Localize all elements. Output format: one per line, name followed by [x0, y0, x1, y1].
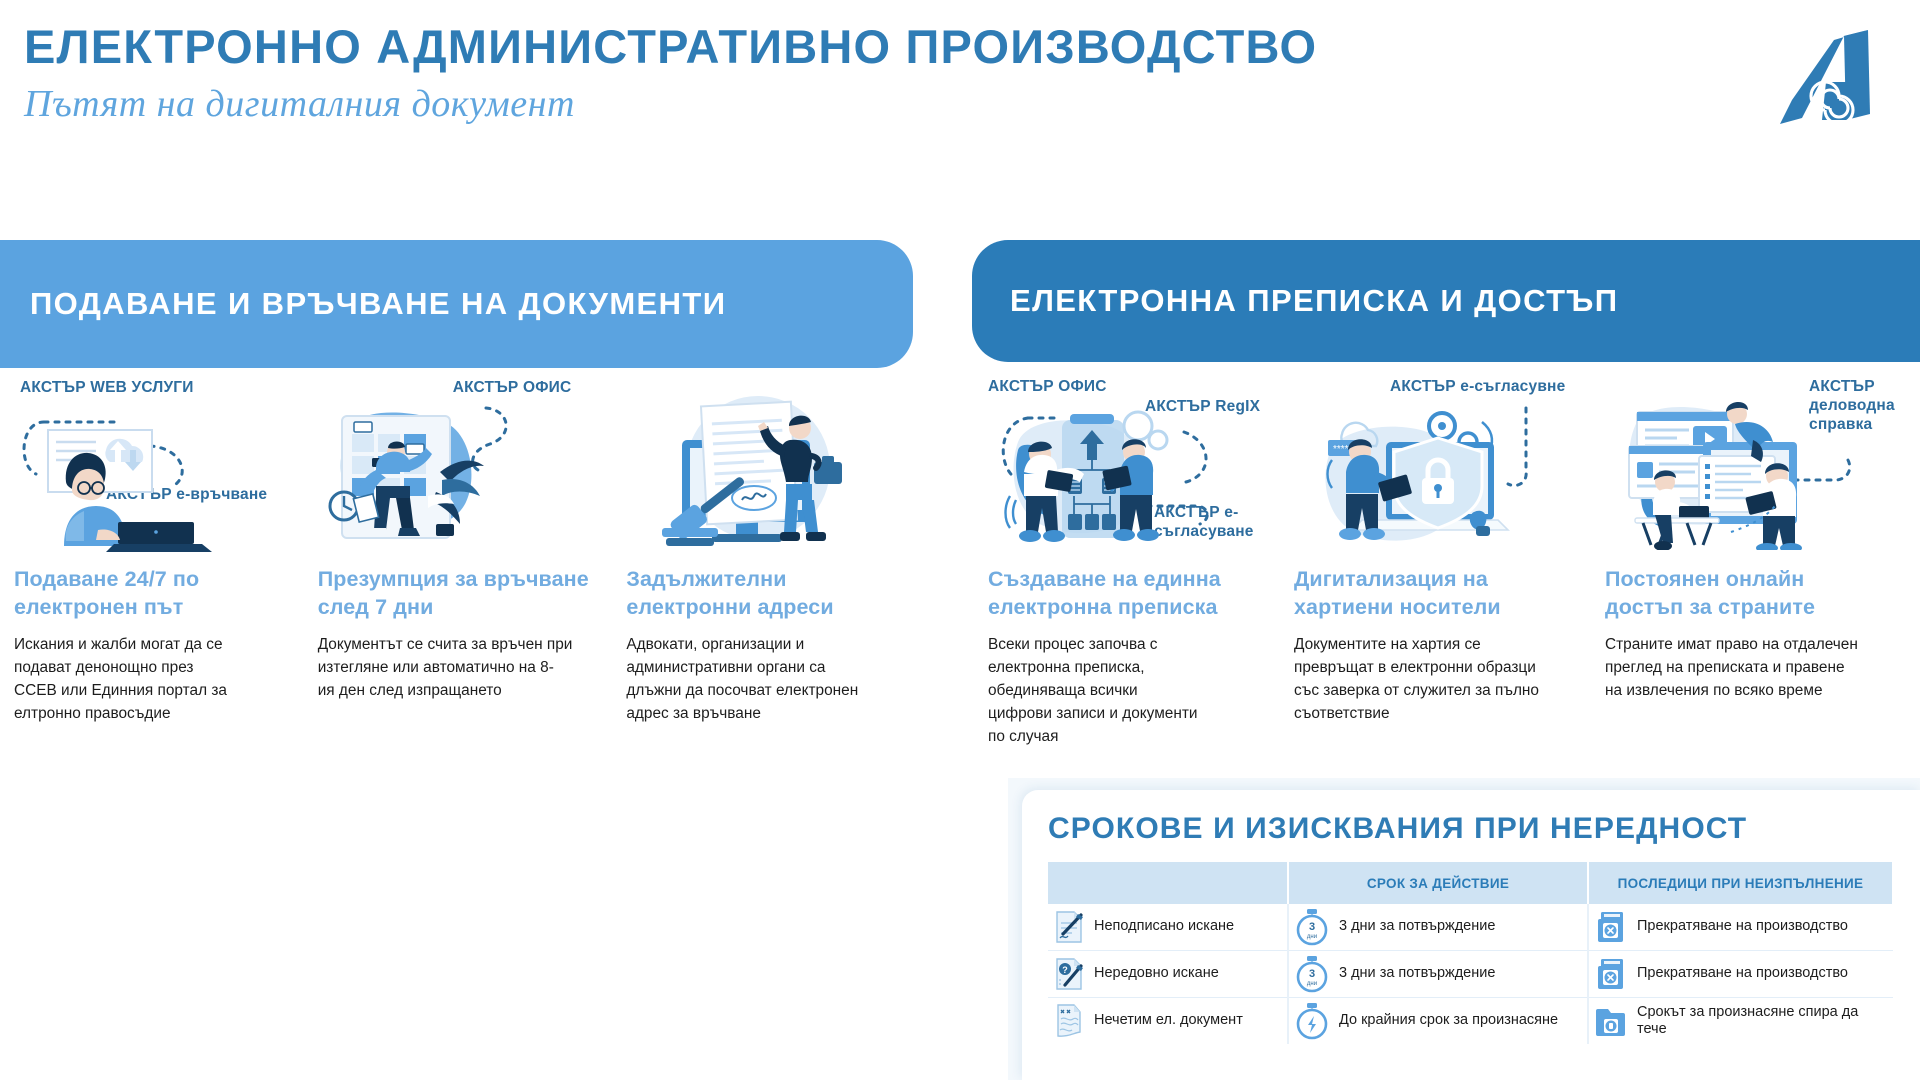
cell-deadline-text: 3 дни за потвърждение: [1339, 918, 1495, 935]
tag-akstar-office: АКСТЪР ОФИС: [453, 379, 572, 398]
section-banner-efile-label: ЕЛЕКТРОННА ПРЕПИСКА И ДОСТЪП: [1010, 281, 1618, 321]
stopwatch-3-days-icon: 3 дни: [1295, 955, 1329, 993]
cards-group-efile: АКСТЪР ОФИС АКСТЪР RegIX АКСТЪР е- съгла…: [988, 380, 1918, 748]
deadlines-panel: СРОКОВЕ И ИЗИСКВАНИЯ ПРИ НЕРЕДНОСТ СРОК …: [1022, 790, 1920, 1080]
card-illustration-area: АКСТЪР ОФИС АКСТЪР RegIX АКСТЪР е- съгла…: [988, 380, 1288, 555]
cell-consequence: Прекратяване на производство: [1588, 951, 1893, 998]
cards-group-submission: АКСТЪР WEB УСЛУГИ АКСТЪР е-връчване: [14, 380, 934, 725]
table-row: ? Нередовно искане: [1048, 951, 1893, 998]
cell-deadline: 3 дни 3 дни за потвърждение: [1288, 904, 1588, 951]
cell-consequence-text: Прекратяване на производство: [1637, 965, 1848, 982]
card-paper-digitization: АКСТЪР е-съгласувне ****: [1294, 380, 1599, 748]
cell-issue: Неподписано искане: [1048, 904, 1288, 951]
woman-laptop-cloud-upload-illustration: [14, 398, 294, 553]
stopwatch-number: 3: [1309, 921, 1315, 933]
card-illustration-area: АКСТЪР WEB УСЛУГИ АКСТЪР е-връчване: [14, 380, 312, 555]
card-body: Всеки процес започва с електронна препис…: [988, 633, 1288, 749]
section-banner-submission: ПОДАВАНЕ И ВРЪЧВАНЕ НА ДОКУМЕНТИ: [0, 240, 913, 368]
card-submission-247: АКСТЪР WEB УСЛУГИ АКСТЪР е-връчване: [14, 380, 312, 725]
page-title: ЕЛЕКТРОННО АДМИНИСТРАТИВНО ПРОИЗВОДСТВО: [24, 22, 1317, 71]
cell-consequence-text: Прекратяване на производство: [1637, 918, 1848, 935]
card-body: Документите на хартия се превръщат в еле…: [1294, 633, 1599, 725]
stopwatch-unit: дни: [1307, 981, 1317, 987]
tag-akstar-office: АКСТЪР ОФИС: [988, 378, 1107, 397]
deadlines-table: СРОК ЗА ДЕЙСТВИЕ ПОСЛЕДИЦИ ПРИ НЕИЗПЪЛНЕ…: [1048, 862, 1894, 1044]
card-body: Искания и жалби могат да се подават дено…: [14, 633, 312, 725]
documents-cancel-icon: [1595, 910, 1627, 944]
card-illustration-area: АКСТЪР деловодна справка: [1605, 380, 1915, 555]
table-header-deadline: СРОК ЗА ДЕЙСТВИЕ: [1288, 862, 1588, 904]
cell-consequence: Срокът за произнасяне спира да тече: [1588, 998, 1893, 1045]
card-mandatory-eaddresses: Задължителни електронни адреси Адвокати,…: [626, 380, 934, 725]
cell-deadline-text: 3 дни за потвърждение: [1339, 965, 1495, 982]
unreadable-document-icon: [1054, 1003, 1084, 1039]
svg-text:?: ?: [1062, 965, 1068, 975]
table-row: Нечетим ел. документ До: [1048, 998, 1893, 1045]
svg-text:****: ****: [1333, 444, 1349, 455]
card-body: Адвокати, организации и административни …: [626, 633, 934, 725]
page-subtitle: Пътят на дигиталния документ: [24, 84, 1317, 126]
gavel-document-monitor-illustration: [640, 388, 890, 552]
unsigned-document-pen-icon: [1054, 910, 1084, 944]
card-title: Подаване 24/7 по електронен път: [14, 565, 312, 622]
cell-deadline-text: До крайния срок за произнасяне: [1339, 1012, 1558, 1029]
stopwatch-number: 3: [1309, 968, 1315, 980]
section-banner-efile: ЕЛЕКТРОННА ПРЕПИСКА И ДОСТЪП: [972, 240, 1920, 362]
two-people-server-structure-illustration: [988, 396, 1256, 554]
card-illustration-area: [626, 380, 934, 555]
people-screens-remote-access-illustration: [1611, 392, 1879, 550]
infographic-page: ЕЛЕКТРОННО АДМИНИСТРАТИВНО ПРОИЗВОДСТВО …: [0, 0, 1920, 1080]
question-document-icon: ?: [1054, 957, 1084, 991]
akstar-a-logo-icon: [1772, 22, 1882, 132]
cell-deadline: 3 дни 3 дни за потвърждение: [1288, 951, 1588, 998]
card-title: Постоянен онлайн достъп за страните: [1605, 565, 1915, 622]
card-title: Презумпция за връчване след 7 дни: [318, 565, 621, 622]
cell-issue-text: Нечетим ел. документ: [1094, 1012, 1243, 1029]
table-header-issue: [1048, 862, 1288, 904]
stopwatch-unit: дни: [1307, 934, 1317, 940]
man-laptop-shield-lock-illustration: ****: [1302, 404, 1580, 554]
cell-consequence-text: Срокът за произнасяне спира да тече: [1637, 1004, 1887, 1039]
cell-consequence: Прекратяване на производство: [1588, 904, 1893, 951]
cell-issue-text: Неподписано искане: [1094, 918, 1234, 935]
cell-issue-text: Нередовно искане: [1094, 965, 1219, 982]
card-illustration-area: АКСТЪР ОФИС: [318, 380, 621, 555]
tag-akstar-eapproval: АКСТЪР е-съгласувне: [1390, 378, 1565, 397]
documents-cancel-icon: [1595, 957, 1627, 991]
folder-pause-icon: [1595, 1004, 1627, 1038]
card-title: Дигитализация на хартиени носители: [1294, 565, 1599, 622]
card-title: Създаване на единна електронна преписка: [988, 565, 1288, 622]
card-body: Документът се счита за връчен при изтегл…: [318, 633, 621, 702]
card-delivery-presumption: АКСТЪР ОФИС: [318, 380, 621, 725]
card-permanent-online-access: АКСТЪР деловодна справка: [1605, 380, 1915, 748]
cell-issue: Нечетим ел. документ: [1048, 998, 1288, 1045]
table-header-row: СРОК ЗА ДЕЙСТВИЕ ПОСЛЕДИЦИ ПРИ НЕИЗПЪЛНЕ…: [1048, 862, 1893, 904]
card-illustration-area: АКСТЪР е-съгласувне ****: [1294, 380, 1599, 555]
section-banner-submission-label: ПОДАВАНЕ И ВРЪЧВАНЕ НА ДОКУМЕНТИ: [30, 284, 726, 324]
table-row: Неподписано искане 3 дни: [1048, 904, 1893, 951]
card-body: Страните имат право на отдалечен преглед…: [1605, 633, 1915, 702]
cell-deadline: До крайния срок за произнасяне: [1288, 998, 1588, 1045]
page-header: ЕЛЕКТРОННО АДМИНИСТРАТИВНО ПРОИЗВОДСТВО …: [24, 22, 1317, 126]
tag-akstar-web-services: АКСТЪР WEB УСЛУГИ: [20, 379, 194, 398]
stopwatch-3-days-icon: 3 дни: [1295, 908, 1329, 946]
stopwatch-pause-icon: [1295, 1002, 1329, 1040]
card-title: Задължителни електронни адреси: [626, 565, 934, 622]
man-calendar-board-illustration: [318, 400, 608, 552]
table-header-consequence: ПОСЛЕДИЦИ ПРИ НЕИЗПЪЛНЕНИЕ: [1588, 862, 1893, 904]
card-unified-efile: АКСТЪР ОФИС АКСТЪР RegIX АКСТЪР е- съгла…: [988, 380, 1288, 748]
cell-issue: ? Нередовно искане: [1048, 951, 1288, 998]
deadlines-panel-title: СРОКОВЕ И ИЗИСКВАНИЯ ПРИ НЕРЕДНОСТ: [1048, 812, 1920, 846]
